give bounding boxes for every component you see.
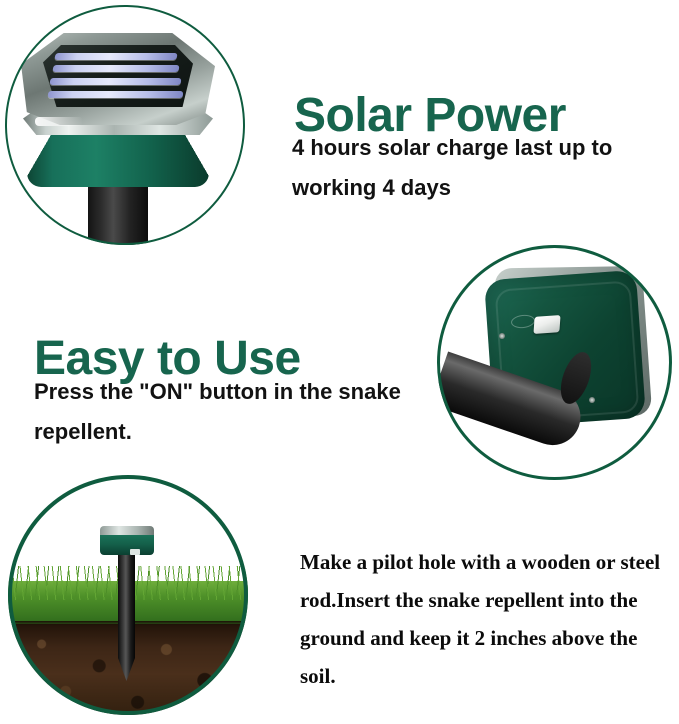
section-body-solar-power: 4 hours solar charge last up to working …	[292, 128, 664, 208]
repeller-device-illustration	[5, 5, 245, 245]
screw-icon	[499, 333, 505, 339]
screw-icon	[589, 397, 595, 403]
on-switch-button[interactable]	[533, 315, 560, 334]
solar-cell-strip	[50, 78, 182, 85]
device-underside-illustration	[437, 245, 672, 480]
solar-photo-clip	[5, 5, 245, 245]
staked-device-tab	[130, 549, 140, 555]
solar-cell-strip	[52, 65, 179, 72]
ground-installation-photo	[8, 475, 248, 715]
solar-panel-top-photo	[5, 5, 245, 245]
body-highlight	[35, 117, 83, 126]
section-body-easy-to-use: Press the "ON" button in the snake repel…	[34, 372, 402, 452]
ground-photo-clip	[8, 475, 248, 715]
staked-device-solar-top	[100, 526, 154, 535]
solar-cell-strip	[48, 91, 184, 98]
infographic-canvas: Solar Power 4 hours solar charge last up…	[0, 0, 679, 724]
section-body-installation: Make a pilot hole with a wooden or steel…	[300, 543, 672, 695]
switch-photo-clip	[437, 245, 672, 480]
staked-device-spike	[118, 553, 135, 681]
solar-cell-strip	[54, 53, 177, 60]
on-switch-photo	[437, 245, 672, 480]
